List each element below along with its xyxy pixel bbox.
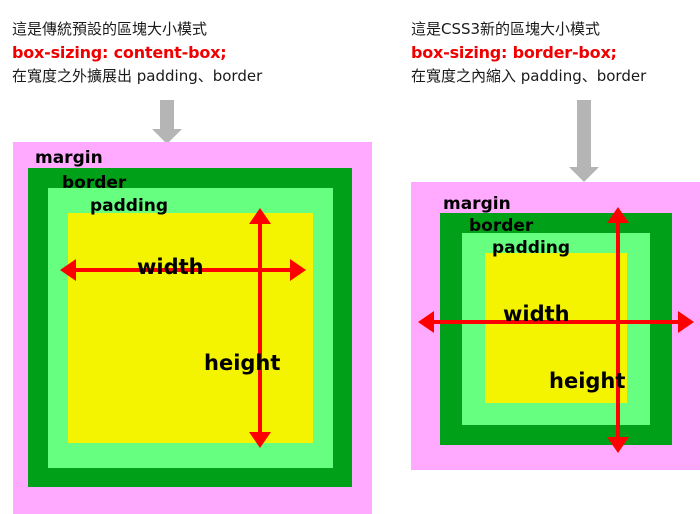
left-caption-line-3: 在寬度之外擴展出 padding、border [12, 65, 262, 88]
left-label-padding: padding [90, 198, 168, 215]
right-label-margin: margin [443, 196, 511, 213]
left-box-model-padding-layer [48, 188, 333, 468]
arrow-shaft [616, 218, 620, 442]
right-caption-line-3: 在寬度之內縮入 padding、border [411, 65, 646, 88]
left-label-height: height [204, 353, 280, 374]
arrow-head [569, 167, 599, 182]
left-box-model-margin-layer [13, 142, 372, 514]
left-caption-line-1: 這是傳統預設的區塊大小模式 [12, 18, 262, 41]
right-height-measure-arrow [606, 207, 630, 453]
arrow-head-right [678, 311, 694, 333]
left-height-measure-arrow [248, 208, 272, 448]
arrow-shaft [160, 100, 174, 130]
right-caption-code: box-sizing: border-box; [411, 41, 646, 65]
right-label-width: width [503, 304, 570, 325]
left-box-model-border-layer [28, 168, 352, 487]
right-panel-caption: 這是CSS3新的區塊大小模式 box-sizing: border-box; 在… [411, 18, 646, 87]
down-arrow-icon-left [142, 100, 192, 145]
arrow-shaft [258, 219, 262, 437]
left-caption-code: box-sizing: content-box; [12, 41, 262, 65]
right-label-border: border [469, 218, 533, 235]
left-label-width: width [137, 257, 204, 278]
arrow-head-bottom [607, 437, 629, 453]
left-panel-caption: 這是傳統預設的區塊大小模式 box-sizing: content-box; 在… [12, 18, 262, 87]
right-caption-line-1: 這是CSS3新的區塊大小模式 [411, 18, 646, 41]
left-label-margin: margin [35, 150, 103, 167]
arrow-head-right [290, 259, 306, 281]
left-box-model-content-layer [68, 213, 313, 443]
arrow-head-bottom [249, 432, 271, 448]
arrow-shaft [577, 100, 591, 168]
right-label-height: height [549, 371, 625, 392]
right-label-padding: padding [492, 240, 570, 257]
left-label-border: border [62, 175, 126, 192]
down-arrow-icon-right [559, 100, 609, 184]
